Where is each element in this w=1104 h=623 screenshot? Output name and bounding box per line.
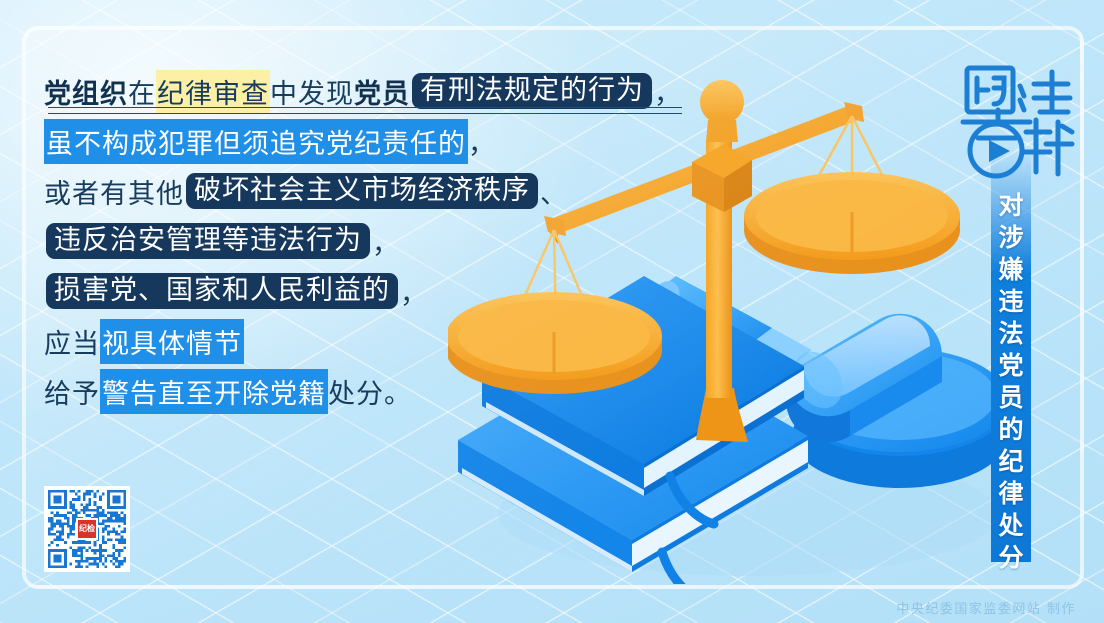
text-segment-plain: ， — [654, 72, 682, 111]
vertical-title-banner: 对涉嫌违法党员的纪律处分 — [991, 150, 1031, 562]
text-segment-plain: 应当 — [44, 322, 100, 361]
vertical-title-char: 涉 — [998, 222, 1023, 254]
text-segment-plain: ， — [468, 122, 496, 161]
vertical-title-char: 嫌 — [998, 254, 1023, 286]
text-segment-pill: 损害党、国家和人民利益的 — [46, 273, 398, 309]
vertical-title-char: 分 — [998, 542, 1023, 574]
text-segment-plain: 中发现 — [270, 72, 354, 111]
text-line: 虽不构成犯罪但须追究党纪责任的， — [44, 116, 684, 166]
text-segment-pill: 违反治安管理等违法行为 — [46, 223, 370, 259]
text-segment-plain: 处分。 — [328, 372, 412, 411]
text-line: 应当视具体情节 — [44, 316, 684, 366]
text-line: 损害党、国家和人民利益的， — [44, 266, 684, 316]
vertical-title-char: 违 — [998, 286, 1023, 318]
text-segment-plain: 在 — [128, 72, 156, 111]
text-segment-highlight-blue: 视具体情节 — [100, 319, 244, 364]
vertical-title-char: 律 — [998, 478, 1023, 510]
vertical-title-char: 法 — [998, 318, 1023, 350]
vertical-title-char: 对 — [998, 190, 1023, 222]
vertical-title-char: 处 — [998, 510, 1023, 542]
text-segment-pill: 破坏社会主义市场经济秩序 — [186, 173, 538, 209]
text-segment-highlight-yellow: 纪律审查 — [156, 70, 270, 113]
qr-code[interactable]: 纪检 — [44, 486, 130, 572]
vertical-title-char: 员 — [998, 382, 1023, 414]
right-scale-pan — [744, 172, 960, 274]
text-segment-plain: 、 — [540, 172, 568, 211]
text-line: 或者有其他破坏社会主义市场经济秩序、 — [44, 166, 684, 216]
text-line: 给予警告直至开除党籍处分。 — [44, 366, 684, 416]
vertical-title-char: 党 — [998, 350, 1023, 382]
text-line: 违反治安管理等违法行为， — [44, 216, 684, 266]
text-segment-plain: 或者有其他 — [44, 172, 184, 211]
qr-center-logo: 纪检 — [76, 518, 98, 540]
text-segment-highlight-blue: 虽不构成犯罪但须追究党纪责任的 — [44, 119, 468, 164]
text-segment-plain: ， — [400, 272, 428, 311]
vertical-title-char: 纪 — [998, 446, 1023, 478]
text-segment-pill: 有刑法规定的行为 — [412, 73, 652, 109]
text-segment-bold: 党员 — [354, 72, 410, 111]
text-segment-bold: 党组织 — [44, 72, 128, 111]
body-copy: 党组织在纪律审查中发现党员有刑法规定的行为，虽不构成犯罪但须追究党纪责任的，或者… — [44, 66, 684, 416]
text-line: 党组织在纪律审查中发现党员有刑法规定的行为， — [44, 66, 684, 116]
credit-line: 中央纪委国家监委网站 制作 — [896, 598, 1076, 617]
text-segment-plain: ， — [372, 222, 400, 261]
vertical-title-char: 的 — [998, 414, 1023, 446]
vertical-title-text: 对涉嫌违法党员的纪律处分 — [991, 190, 1031, 574]
text-segment-highlight-blue: 警告直至开除党籍 — [100, 369, 328, 414]
text-segment-plain: 给予 — [44, 372, 100, 411]
poster-canvas: 党组织在纪律审查中发现党员有刑法规定的行为，虽不构成犯罪但须追究党纪责任的，或者… — [0, 0, 1104, 623]
